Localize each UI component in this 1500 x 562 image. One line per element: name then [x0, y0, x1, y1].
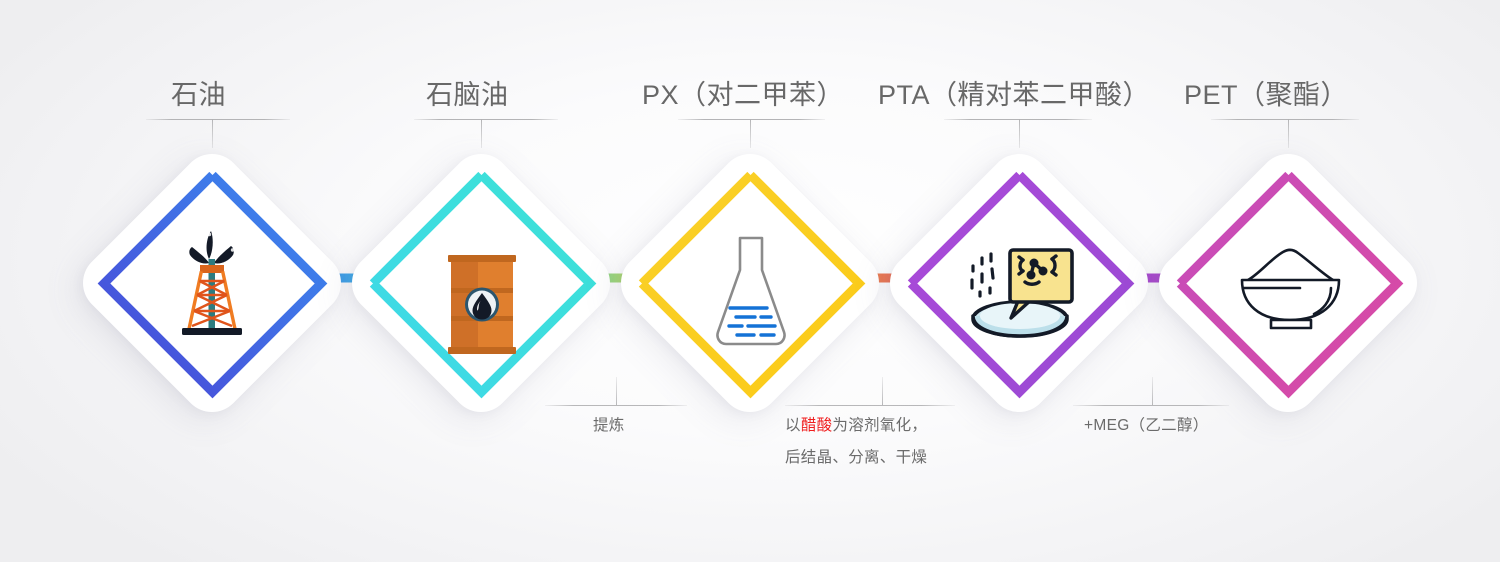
header-rule [944, 119, 1092, 120]
header-rule [146, 119, 290, 120]
process-flow-diagram: 石油 石脑油 PX（对二甲苯） PTA（精对苯二甲酸） PET（聚酯） [0, 0, 1500, 562]
caption-line: 以醋酸为溶剂氧化， [785, 410, 927, 442]
caption-line: 提炼 [593, 410, 625, 442]
header-label: PTA（精对苯二甲酸） [878, 73, 1150, 112]
header-label: 石脑油 [426, 73, 509, 112]
oil-barrel-icon [443, 252, 521, 357]
caption-text: 以 [785, 417, 801, 434]
node-pta[interactable] [878, 142, 1161, 425]
header-label: PET（聚酯） [1184, 73, 1348, 112]
petri-dish-icon [963, 230, 1078, 348]
node-crude-oil[interactable] [71, 142, 354, 425]
header-rule [1211, 119, 1359, 120]
caption-line: 后结晶、分离、干燥 [785, 442, 927, 474]
caption-tick [882, 377, 883, 405]
caption-tick [616, 377, 617, 405]
caption-rule [785, 405, 955, 406]
node-px[interactable] [609, 142, 892, 425]
node-pet[interactable] [1147, 142, 1430, 425]
node-naphtha[interactable] [340, 142, 623, 425]
caption-highlight: 醋酸 [801, 417, 833, 434]
header-label: 石油 [171, 73, 226, 112]
caption-text: 提炼 [593, 417, 625, 434]
caption-text: +MEG（乙二醇） [1084, 417, 1209, 434]
polyester-chips-bowl-icon [1235, 244, 1345, 332]
caption-text: 为溶剂氧化， [832, 417, 927, 434]
header-rule [678, 119, 825, 120]
erlenmeyer-flask-icon [705, 232, 797, 352]
caption-rule [545, 405, 687, 406]
caption-text: 后结晶、分离、干燥 [785, 449, 927, 466]
caption-line: +MEG（乙二醇） [1084, 410, 1209, 442]
header-rule [414, 119, 558, 120]
header-label: PX（对二甲苯） [642, 73, 844, 112]
oil-derrick-icon [162, 221, 262, 346]
caption-rule [1073, 405, 1229, 406]
caption-tick [1152, 377, 1153, 405]
